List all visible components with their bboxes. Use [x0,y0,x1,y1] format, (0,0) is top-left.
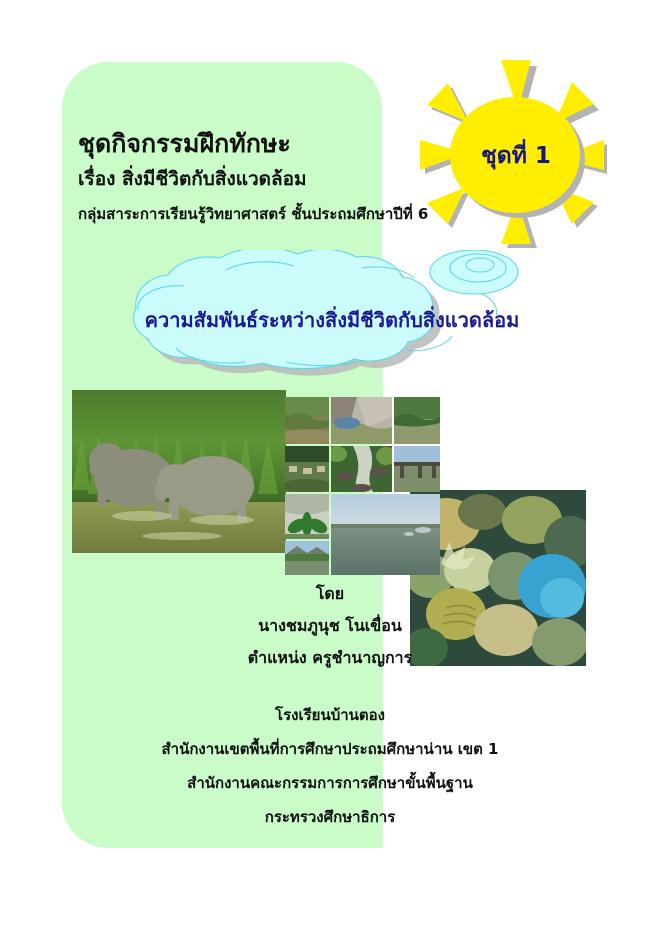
photo-waterfall [331,446,392,492]
page-subtitle: เรื่อง สิ่งมีชีวิตกับสิ่งแวดล้อม [78,166,388,193]
author-name: นางชมภูนุช โนเขื่อน [152,618,508,634]
sun-disc [450,97,580,213]
photo-rocky-riverbank [331,397,392,444]
cloud-body [134,250,518,369]
photo-elephants-in-river [72,390,286,553]
cloud-banner: ความสัมพันธ์ระหว่างสิ่งมีชีวิตกับสิ่งแวด… [76,250,596,378]
author-position: ตำแหน่ง ครูชำนาญการ [152,650,508,666]
photo-mangrove-shore [394,397,440,444]
cover-page: ชุดกิจกรรมฝึกทักษะ เรื่อง สิ่งมีชีวิตกับ… [0,0,660,934]
sun-icon [408,52,620,262]
photo-wide-lake [331,494,440,575]
footer-area-office: สำนักงานเขตพื้นที่การศึกษาประถมศึกษาน่าน… [142,742,518,757]
photo-river-landscape [285,397,329,444]
photo-bridge-over-river [394,446,440,492]
photo-mountain-lake [285,541,329,575]
footer-ministry: กระทรวงศึกษาธิการ [142,810,518,825]
footer-block: โรงเรียนบ้านตอง สำนักงานเขตพื้นที่การศึก… [142,708,518,844]
footer-school: โรงเรียนบ้านตอง [142,708,518,723]
page-title: ชุดกิจกรรมฝึกทักษะ [78,128,388,159]
footer-commission: สำนักงานคณะกรรมการการศึกษาขั้นพื้นฐาน [142,776,518,791]
photo-village-by-water [285,446,329,492]
heading-block: ชุดกิจกรรมฝึกทักษะ เรื่อง สิ่งมีชีวิตกับ… [78,128,388,225]
byline-block: โดย นางชมภูนุช โนเขื่อน ตำแหน่ง ครูชำนาญ… [152,586,508,682]
cloud-icon [76,250,596,378]
sun-badge: ชุดที่ 1 [408,52,620,262]
page-strand-line: กลุ่มสาระการเรียนรู้วิทยาศาสตร์ ชั้นประถ… [78,204,388,225]
photo-plant-closeup [285,494,329,539]
byline-line: โดย [152,586,508,602]
cloud-swirl-inner [466,258,494,272]
